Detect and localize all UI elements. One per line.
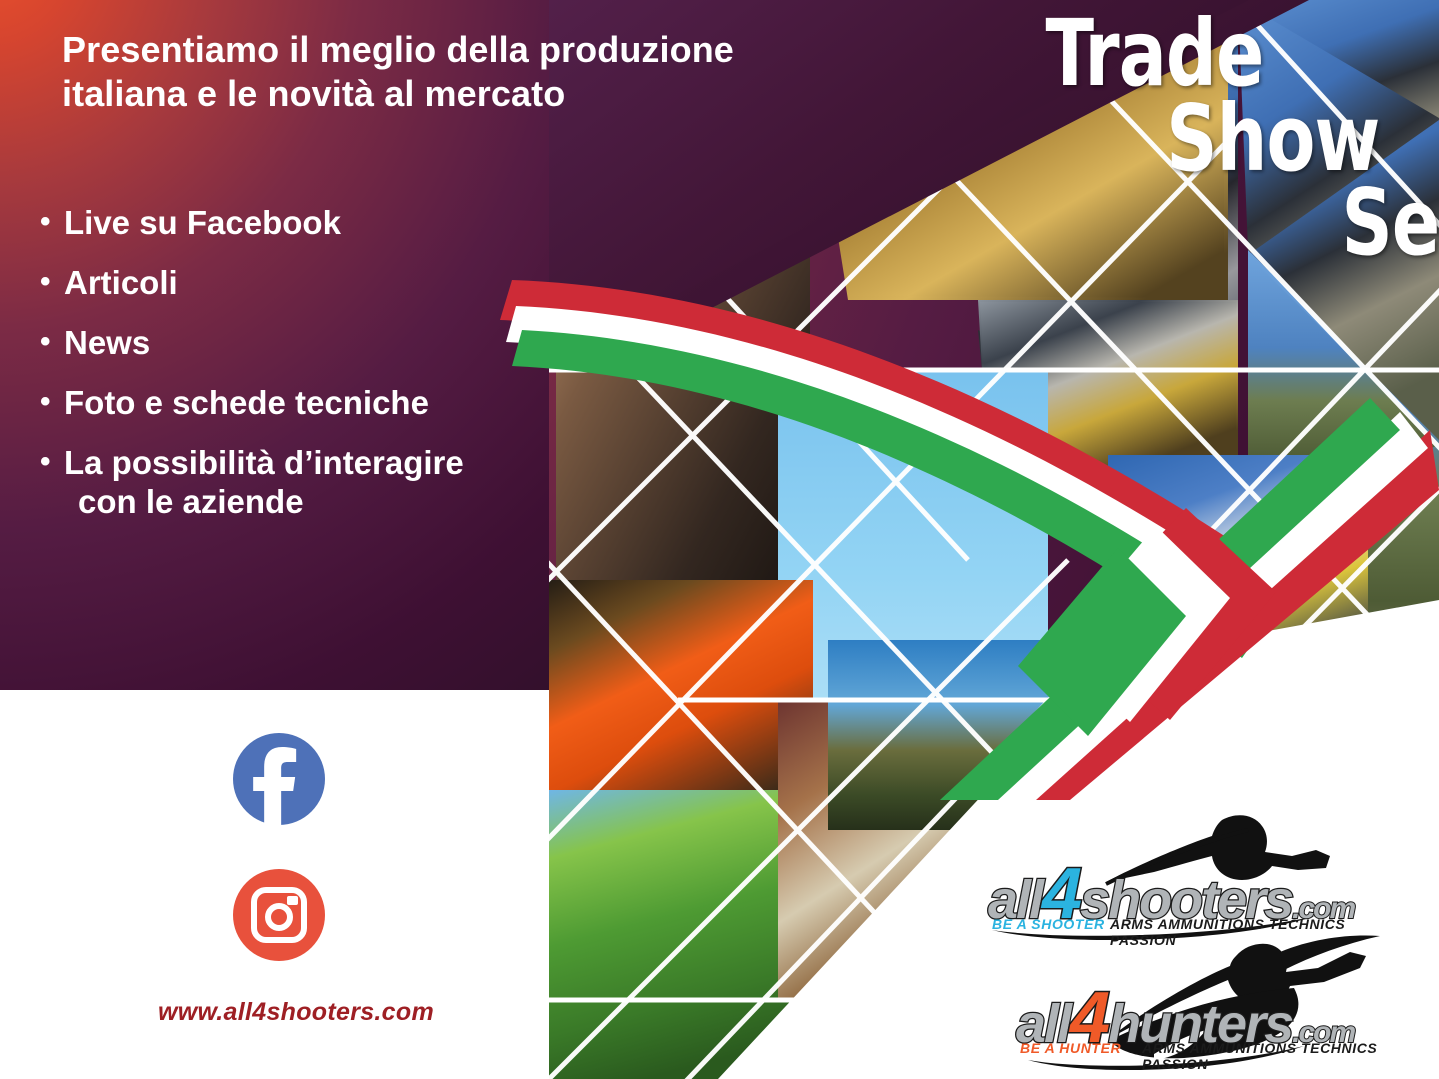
list-item: • News [40,324,560,363]
bullet-marker: • [40,384,64,420]
all4hunters-logo[interactable]: all4hunters.com BE A HUNTER ARMS AMMUNIT… [1014,934,1384,1070]
intro-line-1: Presentiamo il meglio della produzione [62,29,734,70]
feature-bullet-list: • Live su Facebook • Articoli • News • F… [40,204,560,543]
logo-tagline-left: BE A HUNTER [1020,1040,1121,1056]
promo-poster: Presentiamo il meglio della produzione i… [0,0,1439,1079]
bullet-text: News [64,324,150,361]
logo-tagline-right: ARMS AMMUNITIONS TECHNICS PASSION [1142,1040,1384,1072]
bullet-text: Articoli [64,264,178,301]
bullet-text: La possibilità d’interagire [64,444,464,481]
facebook-icon[interactable] [233,733,325,825]
instagram-icon[interactable] [233,869,325,961]
bullet-text: Live su Facebook [64,204,341,241]
website-url[interactable]: www.all4shooters.com [158,998,434,1027]
bullet-marker: • [40,264,64,300]
bullet-marker: • [40,444,64,480]
list-item: • Live su Facebook [40,204,560,243]
list-item: • Articoli [40,264,560,303]
bullet-text: Foto e schede tecniche [64,384,429,421]
bullet-text-continuation: con le aziende [64,483,560,522]
bullet-marker: • [40,204,64,240]
list-item: • Foto e schede tecniche [40,384,560,423]
all4shooters-logo[interactable]: all4shooters.com BE A SHOOTER ARMS AMMUN… [986,812,1346,942]
intro-line-2: italiana e le novità al mercato [62,72,762,116]
logo-tagline-left: BE A SHOOTER [992,916,1105,932]
bullet-marker: • [40,324,64,360]
social-links [233,733,325,961]
intro-paragraph: Presentiamo il meglio della produzione i… [62,28,762,116]
list-item: • La possibilità d’interagire con le azi… [40,444,560,522]
